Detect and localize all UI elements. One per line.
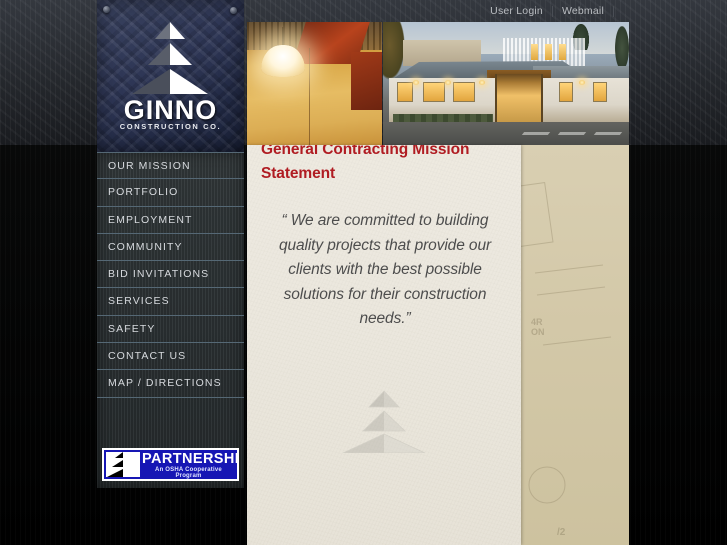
parking-stripe-3: [594, 132, 622, 135]
window-5: [593, 82, 607, 102]
soffit-light-4: [579, 80, 585, 85]
entrance-detail: [495, 74, 543, 122]
parking-stripe-2: [558, 132, 586, 135]
wall-edge-detail: [309, 48, 310, 145]
mission-statement-quote: “ We are committed to building quality p…: [261, 209, 509, 332]
user-login-link[interactable]: User Login: [481, 6, 553, 17]
sidebar: OUR MISSION PORTFOLIO EMPLOYMENT COMMUNI…: [97, 152, 244, 488]
brand-logo-plate[interactable]: GINNO CONSTRUCTION CO.: [97, 0, 244, 152]
sidebar-item-bid-invitations[interactable]: BID INVITATIONS: [97, 261, 244, 288]
sidebar-item-services[interactable]: SERVICES: [97, 288, 244, 315]
sidebar-item-employment[interactable]: EMPLOYMENT: [97, 207, 244, 234]
pyramid-logo-icon: [106, 452, 140, 477]
timber-beam-detail-2: [351, 52, 382, 110]
upper-window-2: [545, 44, 552, 60]
osha-badge-title: PARTNERSHIP: [142, 452, 235, 467]
photo-commercial-building-exterior: [383, 22, 629, 145]
osha-badge-subtitle: An OSHA Cooperative Program: [142, 467, 235, 479]
upper-window-3: [559, 44, 566, 60]
sidebar-item-map-directions[interactable]: MAP / DIRECTIONS: [97, 370, 244, 397]
sidebar-item-our-mission[interactable]: OUR MISSION: [97, 152, 244, 179]
brand-tagline: CONSTRUCTION CO.: [97, 122, 244, 131]
pyramid-watermark-icon: [329, 391, 439, 453]
parking-stripe-1: [522, 132, 550, 135]
main-content-panel: General Contracting Mission Statement “ …: [247, 145, 521, 545]
upper-window-1: [531, 44, 538, 60]
soffit-light-2: [445, 80, 451, 85]
svg-text:ON: ON: [531, 327, 545, 337]
osha-partnership-badge[interactable]: PARTNERSHIP An OSHA Cooperative Program: [102, 448, 239, 481]
pyramid-logo-icon: [128, 22, 213, 94]
soffit-light-1: [413, 80, 419, 85]
page-root: RE CL CONT. WP 4R ON /2: [0, 0, 727, 545]
tree-detail-right: [615, 26, 629, 66]
svg-text:/2: /2: [557, 527, 566, 538]
lamp-cord-detail: [282, 27, 284, 47]
page-title: General Contracting Mission Statement: [261, 145, 511, 186]
tree-detail-left: [383, 22, 405, 80]
window-2: [423, 82, 445, 102]
sidebar-item-safety[interactable]: SAFETY: [97, 316, 244, 343]
topbar: User Login Webmail: [0, 0, 727, 22]
sidebar-item-community[interactable]: COMMUNITY: [97, 234, 244, 261]
svg-text:4R: 4R: [531, 317, 543, 327]
window-4: [559, 82, 573, 102]
parking-lot-detail: [383, 122, 629, 145]
window-3: [453, 82, 475, 102]
photo-pendant-lamp-interior: [247, 22, 382, 145]
masthead-photo-strip: [247, 22, 629, 145]
webmail-link[interactable]: Webmail: [553, 6, 614, 17]
sidebar-nav: OUR MISSION PORTFOLIO EMPLOYMENT COMMUNI…: [97, 152, 244, 398]
sidebar-item-portfolio[interactable]: PORTFOLIO: [97, 179, 244, 206]
soffit-light-3: [479, 80, 485, 85]
window-1: [397, 82, 413, 102]
sidebar-item-contact-us[interactable]: CONTACT US: [97, 343, 244, 370]
